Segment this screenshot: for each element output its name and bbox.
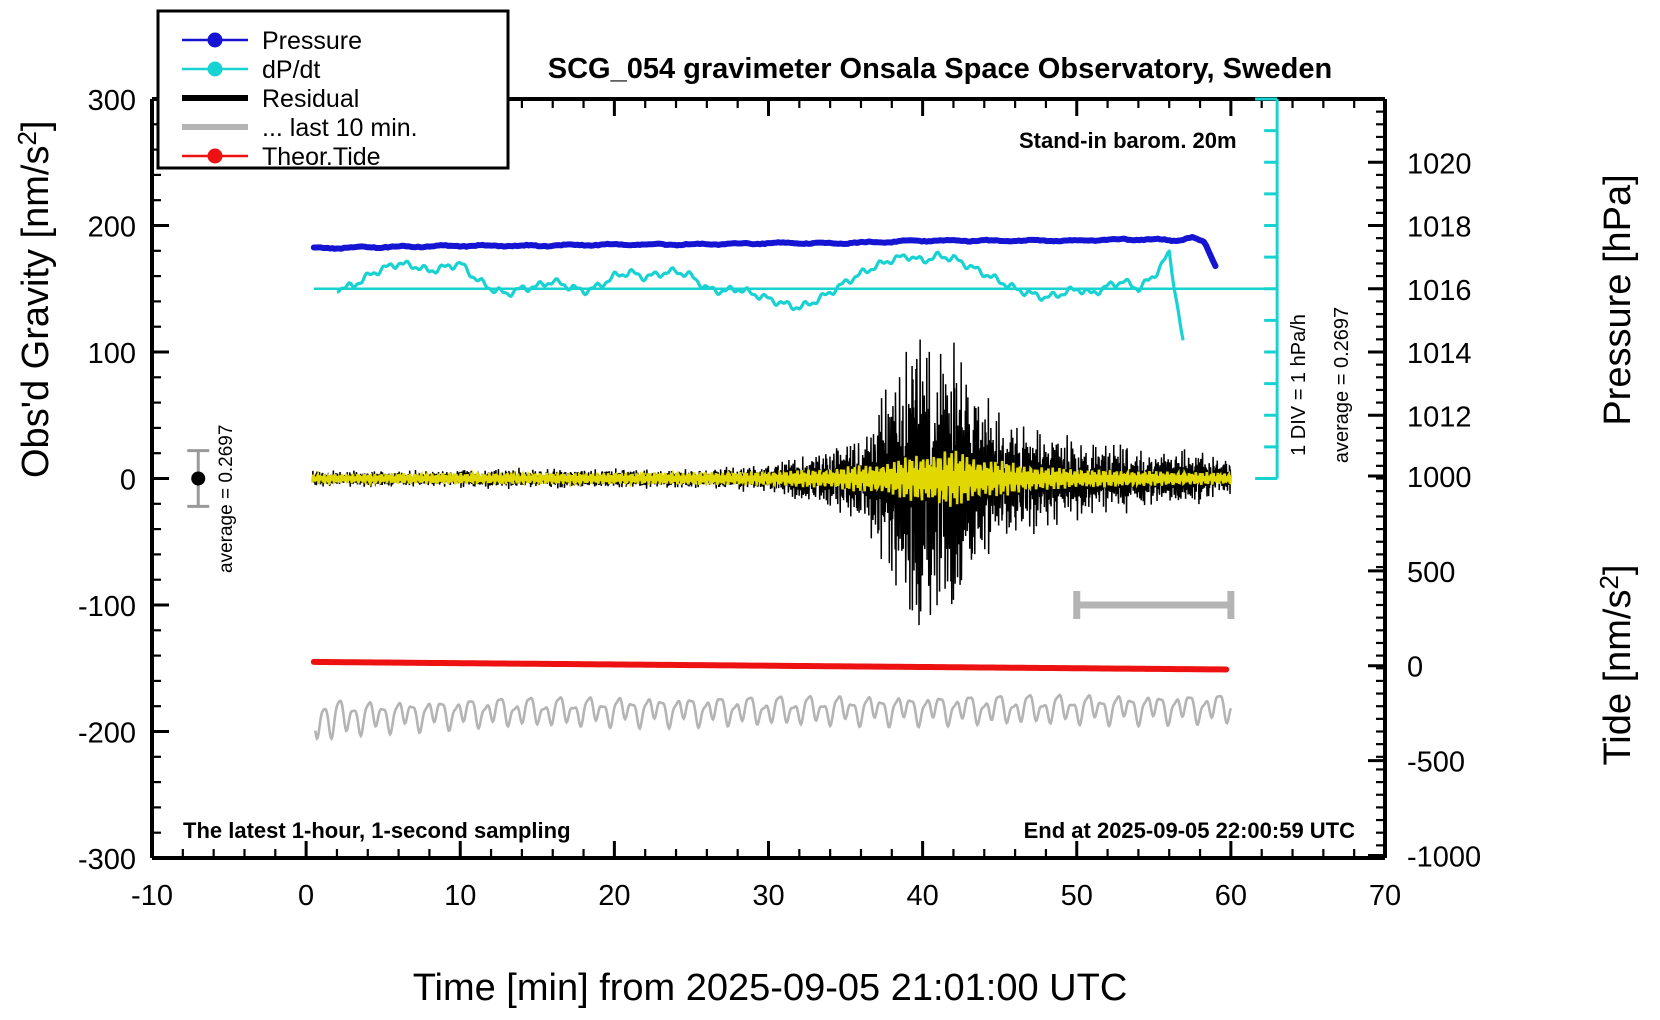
tide-tick-label: -1000: [1407, 841, 1481, 873]
tide-tick-label: 1000: [1407, 462, 1472, 494]
pressure-tick-label: 1012: [1407, 401, 1472, 433]
tide-tick-label: 0: [1407, 652, 1423, 684]
x-axis-title: Time [min] from 2025-09-05 21:01:00 UTC: [413, 967, 1128, 1009]
x-tick-label: 50: [1061, 880, 1093, 912]
dpdt-scale-division-label: 1 DIV = 1 hPa/h: [1288, 314, 1310, 456]
tide-axis-ticks: [1368, 476, 1385, 855]
y-tick-label: 0: [120, 465, 136, 497]
trace-last-10-min: [315, 695, 1231, 739]
footer-right-label: End at 2025-09-05 22:00:59 UTC: [1024, 818, 1355, 843]
pressure-axis-title-text: Pressure [hPa]: [1597, 174, 1639, 425]
legend-item-label: dP/dt: [262, 56, 320, 84]
tide-axis-title-text: Tide [nm/s: [1597, 590, 1639, 766]
dpdt-average-label: average = 0.2697: [1331, 307, 1353, 463]
x-tick-label: 60: [1215, 880, 1247, 912]
y-tick-label: 100: [88, 338, 136, 370]
y-tick-label: -300: [78, 844, 136, 876]
chart-canvas: -10010203040506070 3002001000-100-200-30…: [0, 0, 1660, 1020]
legend: PressuredP/dtResidual... last 10 min.The…: [158, 11, 508, 171]
pressure-tick-label: 1016: [1407, 275, 1472, 307]
typical-noise-level-marker: [187, 451, 209, 507]
pressure-tick-label: 1018: [1407, 212, 1472, 244]
pressure-tick-label: 1020: [1407, 148, 1472, 180]
right-axis-minor-ticks: [1376, 99, 1385, 858]
x-tick-label: 10: [444, 880, 476, 912]
trace-dpdt: [337, 251, 1183, 340]
svg-text:Pressure [hPa]: Pressure [hPa]: [1597, 174, 1639, 425]
trace-theor-tide: [314, 662, 1226, 670]
tide-axis-title-bracket: ]: [1597, 564, 1639, 575]
legend-item-label: ... last 10 min.: [262, 114, 418, 142]
x-tick-label: 20: [598, 880, 630, 912]
svg-text:Obs'd Gravity [nm/s2]: Obs'd Gravity [nm/s2]: [12, 121, 57, 478]
y-tick-label: -200: [78, 718, 136, 750]
chart-title: SCG_054 gravimeter Onsala Space Observat…: [548, 53, 1332, 85]
y-axis-title-bracket: ]: [15, 121, 57, 132]
y-tick-label: 300: [88, 85, 136, 117]
pressure-axis-tick-labels: 10201018101610141012: [1407, 148, 1472, 433]
legend-item-label: Residual: [262, 85, 359, 113]
x-axis-tick-labels: -10010203040506070: [131, 880, 1401, 912]
tide-tick-label: -500: [1407, 747, 1465, 779]
trace-pressure: [314, 237, 1216, 266]
x-tick-label: 0: [298, 880, 314, 912]
y-axis-ticks: [152, 99, 169, 858]
x-tick-label: -10: [131, 880, 173, 912]
y-tick-label: -100: [78, 591, 136, 623]
footer-left-label: The latest 1-hour, 1-second sampling: [183, 818, 571, 843]
y-tick-label: 200: [88, 212, 136, 244]
duration-bar: [1077, 591, 1231, 619]
tide-axis-title: Tide [nm/s2]: [1594, 564, 1639, 765]
pressure-tick-label: 1014: [1407, 338, 1472, 370]
tide-axis-title-exponent: 2: [1594, 575, 1624, 589]
gravimeter-chart-figure: -10010203040506070 3002001000-100-200-30…: [0, 0, 1660, 1020]
pressure-axis-title: Pressure [hPa]: [1597, 174, 1639, 425]
x-tick-label: 70: [1369, 880, 1401, 912]
legend-item-label: Theor.Tide: [262, 143, 381, 171]
legend-item-label: Pressure: [262, 27, 362, 55]
y-axis-title-text: Obs'd Gravity [nm/s: [15, 146, 57, 478]
standin-barom-annotation: Stand-in barom. 20m: [1019, 128, 1237, 153]
svg-text:Tide [nm/s2]: Tide [nm/s2]: [1594, 564, 1639, 765]
x-tick-label: 40: [906, 880, 938, 912]
y-axis-title-exponent: 2: [12, 131, 42, 145]
typical-noise-level-label: average = 0.2697: [216, 425, 237, 573]
x-tick-label: 30: [752, 880, 784, 912]
tide-tick-label: 500: [1407, 557, 1455, 589]
y-axis-title: Obs'd Gravity [nm/s2]: [12, 121, 57, 478]
tide-axis-tick-labels: 10005000-500-1000: [1407, 462, 1481, 873]
y-axis-tick-labels: 3002001000-100-200-300: [78, 85, 136, 876]
